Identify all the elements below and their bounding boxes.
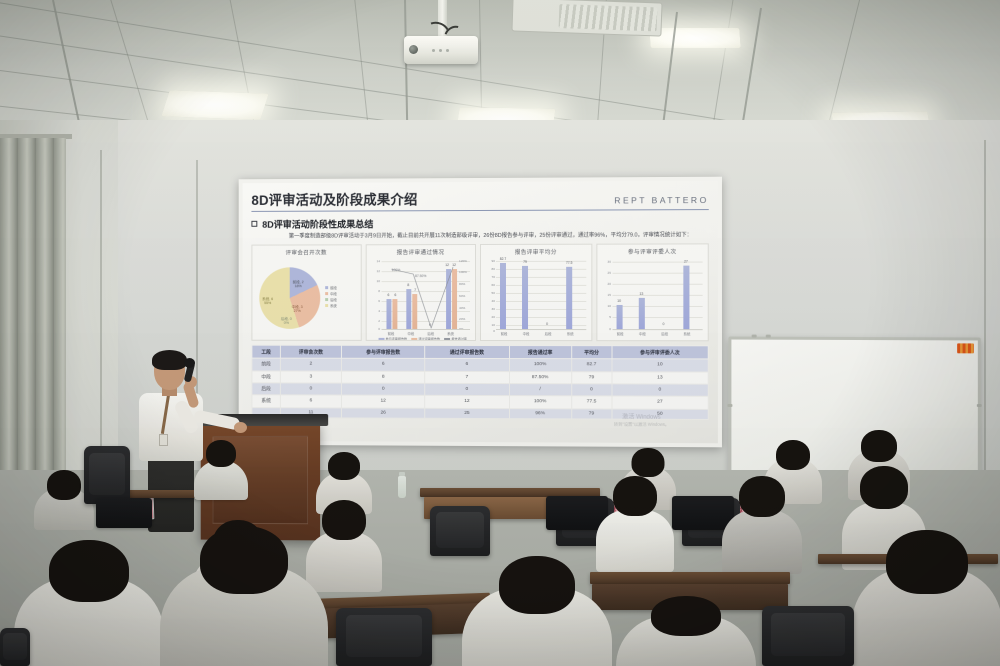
chair[interactable] <box>336 608 432 666</box>
pie-chart: 前段, 2 18% 中段, 3 27% 后段, 0 0% 系统, 6 55% <box>259 267 320 329</box>
y-tick: 10 <box>600 304 611 308</box>
table-cell: 12 <box>425 396 509 409</box>
table-cell: 8 <box>342 371 425 384</box>
table-header-cell: 评审会次数 <box>280 346 341 359</box>
brand-logo: REPT BATTERO <box>614 195 708 205</box>
table-cell: 中段 <box>252 370 280 382</box>
table-cell: 0 <box>425 383 509 396</box>
table-cell: 2 <box>280 358 341 370</box>
section-heading-row: 8D评审活动阶段性成果总结 <box>251 215 708 231</box>
chart-title: 报告评审平均分 <box>484 248 588 256</box>
chart-title: 参与评审评委人次 <box>600 248 705 256</box>
y-tick: 30 <box>600 260 611 264</box>
desk <box>590 572 790 584</box>
table-cell: 后段 <box>252 383 280 395</box>
table-cell: 100% <box>509 396 571 409</box>
audience-member <box>462 556 612 666</box>
water-bottle <box>398 476 406 498</box>
table-cell: 0 <box>571 384 611 397</box>
y-tick: 70 <box>484 275 495 279</box>
pass-rate-line <box>369 257 472 338</box>
bar <box>683 265 689 329</box>
y-tick: 40 <box>484 299 495 303</box>
table-cell: 0 <box>342 383 425 396</box>
table-cell: 12 <box>342 395 425 408</box>
y-tick: 60 <box>484 283 495 287</box>
bar <box>566 267 572 329</box>
table-cell: 96% <box>509 408 571 419</box>
legend-label: 中段 <box>330 292 337 296</box>
table-cell: 27 <box>612 396 709 409</box>
ceiling-light-panel <box>161 90 268 119</box>
legend-label: 报告通过率 <box>451 337 466 341</box>
table-header-cell: 参与评审评委人次 <box>612 346 709 359</box>
legend-label: 后段 <box>330 298 337 302</box>
desk-monitor <box>96 498 152 528</box>
chart-axes: 30 25 20 15 10 5 0 10 13 <box>600 257 705 339</box>
x-label: 后段 <box>656 332 672 337</box>
chair[interactable] <box>84 446 130 504</box>
chart-title: 报告评审通过情况 <box>369 248 472 256</box>
audience-member <box>722 476 802 574</box>
summary-table: 工段 评审会次数 参与评审报告数 通过评审报告数 报告通过率 平均分 参与评审评… <box>251 345 708 420</box>
chart-pie-meeting-count: 评审会召开次数 前段, 2 18% 中段, 3 27% 后段, 0 0% 系统,… <box>251 245 361 342</box>
legend-label: 参与评审报告数 <box>386 337 407 341</box>
bar-value: 79 <box>518 260 532 264</box>
audience-member <box>616 596 756 666</box>
x-label: 前段 <box>496 331 512 336</box>
table-cell: 前段 <box>252 358 280 370</box>
chair[interactable] <box>430 506 490 556</box>
table-cell: 6 <box>280 395 341 408</box>
projector-lens-icon <box>409 45 418 54</box>
section-heading: 8D评审活动阶段性成果总结 <box>262 216 373 230</box>
x-label: 前段 <box>612 331 628 336</box>
audience-member <box>852 530 1000 666</box>
x-label: 系统 <box>679 332 695 337</box>
y-tick: 10 <box>484 323 495 327</box>
chart-legend: 参与评审报告数 通过评审报告数 报告通过率 <box>372 336 473 341</box>
y-tick: 0 <box>600 327 611 331</box>
bar-value: 27 <box>679 260 693 264</box>
slide-header: 8D评审活动及阶段成果介绍 REPT BATTERO <box>251 187 708 212</box>
table-cell: 3 <box>280 371 341 383</box>
y-tick: 15 <box>600 293 611 297</box>
pie-label-2: 后段, 0 0% <box>281 317 292 326</box>
audience-member <box>14 540 164 666</box>
pie-legend: 前段 中段 后段 系统 <box>325 286 337 310</box>
table-header-row: 工段 评审会次数 参与评审报告数 通过评审报告数 报告通过率 平均分 参与评审评… <box>252 346 708 360</box>
bar <box>638 298 644 329</box>
y-tick: 30 <box>484 307 495 311</box>
line-value: 100% <box>389 269 403 273</box>
bar <box>522 266 528 329</box>
projection-screen: 8D评审活动及阶段成果介绍 REPT BATTERO 8D评审活动阶段性成果总结… <box>239 177 722 448</box>
table-cell: 13 <box>612 371 709 384</box>
table-cell: 25 <box>425 408 509 419</box>
table-header-cell: 通过评审报告数 <box>425 346 509 359</box>
bar <box>500 263 506 329</box>
chart-axes: 14 12 10 8 6 4 2 0 120% 100% 80% 60% <box>369 257 472 338</box>
slide-paragraph: 第一季度制造部级8D评审活动于3月9日开始，截止目前共开展11次制造部级评审，2… <box>273 231 709 241</box>
chart-title: 评审会召开次数 <box>255 249 357 257</box>
conference-room-scene: 8D评审活动及阶段成果介绍 REPT BATTERO 8D评审活动阶段性成果总结… <box>0 0 1000 666</box>
table-cell: 10 <box>612 359 709 372</box>
bar-value: 77.5 <box>562 261 576 265</box>
table-cell: 79 <box>571 409 611 420</box>
table-cell: 50 <box>612 409 709 420</box>
table-cell: 82.7 <box>571 359 611 372</box>
bar-value: 0 <box>656 322 670 326</box>
pie-label-1: 中段, 3 27% <box>292 305 303 314</box>
pie-label-3: 系统, 6 55% <box>262 297 273 306</box>
table-cell: 77.5 <box>571 396 611 409</box>
x-label: 后段 <box>540 331 556 336</box>
table-header-cell: 平均分 <box>571 346 611 359</box>
table-cell: 系统 <box>252 395 280 407</box>
table-cell: 100% <box>509 359 571 372</box>
x-label: 系统 <box>562 331 578 336</box>
table-row: 前段 2 6 6 100% 82.7 10 <box>252 358 708 371</box>
y-tick: 25 <box>600 271 611 275</box>
slide-title: 8D评审活动及阶段成果介绍 <box>251 188 417 209</box>
y-tick: 20 <box>484 315 495 319</box>
charts-row: 评审会召开次数 前段, 2 18% 中段, 3 27% 后段, 0 0% 系统,… <box>251 244 708 342</box>
chart-average-score: 报告评审平均分 90 8 <box>480 244 592 341</box>
x-label: 中段 <box>634 331 650 336</box>
bar <box>616 305 622 329</box>
legend-label: 前段 <box>330 286 337 290</box>
chair[interactable] <box>762 606 854 666</box>
table-cell: / <box>509 383 571 396</box>
bar-value: 82.7 <box>496 257 510 261</box>
table-cell: 6 <box>342 358 425 371</box>
audience-member <box>160 526 328 666</box>
bullet-square-icon <box>251 221 257 227</box>
presentation-slide: 8D评审活动及阶段成果介绍 REPT BATTERO 8D评审活动阶段性成果总结… <box>243 181 718 443</box>
chart-judge-participation: 参与评审评委人次 30 25 20 15 <box>596 244 709 342</box>
table-header-cell: 报告通过率 <box>509 346 571 359</box>
table-cell: 79 <box>571 371 611 384</box>
chart-axes: 90 80 70 60 50 40 30 20 10 0 <box>484 257 588 338</box>
table-header-cell: 工段 <box>252 346 280 359</box>
chart-report-pass-status: 报告评审通过情况 14 12 10 <box>365 244 476 341</box>
y-tick: 80 <box>484 267 495 271</box>
y-tick: 50 <box>484 291 495 295</box>
id-badge <box>159 434 168 446</box>
table-header-cell: 参与评审报告数 <box>342 346 425 359</box>
audience-member <box>194 440 248 500</box>
legend-label: 通过评审报告数 <box>419 337 441 341</box>
table-cell: 87.50% <box>509 371 571 384</box>
air-conditioner-vent <box>511 0 662 37</box>
chair[interactable] <box>0 628 30 666</box>
y-tick: 20 <box>600 282 611 286</box>
pie-label-0: 前段, 2 18% <box>293 280 304 289</box>
table-cell: 6 <box>425 359 509 372</box>
y-tick: 5 <box>600 315 611 319</box>
microphone-head-icon <box>184 358 195 368</box>
bar-value: 0 <box>540 322 554 326</box>
y-tick: 0 <box>484 329 495 333</box>
y-tick: 90 <box>484 259 495 263</box>
x-label: 中段 <box>518 331 534 336</box>
line-value: 87.50% <box>413 274 429 278</box>
bar-value: 13 <box>634 292 648 296</box>
bar-value: 10 <box>612 299 626 303</box>
ceiling-light-panel <box>649 28 740 48</box>
table-cell: 0 <box>612 384 709 397</box>
table-cell: 0 <box>280 383 341 395</box>
magnet-cluster-icon[interactable] <box>957 343 974 353</box>
legend-label: 系统 <box>330 304 337 308</box>
table-cell: 26 <box>342 408 425 419</box>
window-curtain[interactable] <box>0 138 66 478</box>
watermark-line-2: 转到"设置"以激活 Windows。 <box>614 422 669 428</box>
table-cell: 7 <box>425 371 509 384</box>
